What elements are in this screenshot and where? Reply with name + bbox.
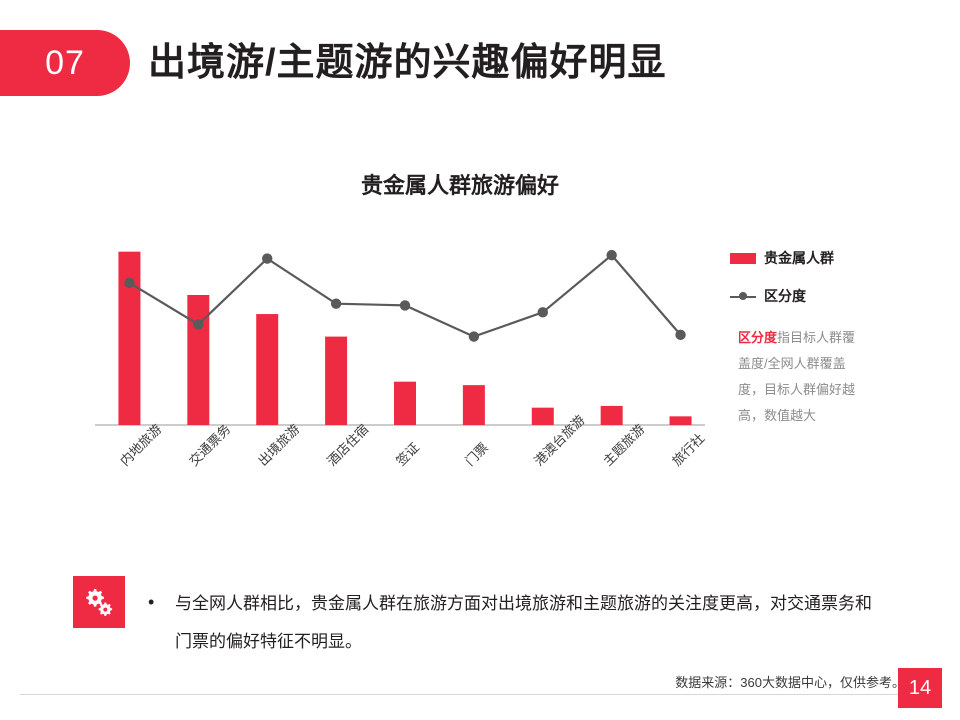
- legend-item-line: 区分度: [730, 283, 920, 309]
- chart-bar: [463, 385, 485, 425]
- chart-bar: [394, 382, 416, 425]
- chart-line-point: [469, 331, 479, 341]
- chart-line-point: [675, 330, 685, 340]
- slide-header: 07 出境游/主题游的兴趣偏好明显: [0, 30, 960, 96]
- chart-line-point: [193, 319, 203, 329]
- chart-line-point: [538, 307, 548, 317]
- bullet-text: 与全网人群相比，贵金属人群在旅游方面对出境旅游和主题旅游的关注度更高，对交通票务…: [175, 585, 875, 661]
- legend-note-highlight: 区分度: [738, 330, 777, 345]
- chart-bar: [670, 416, 692, 425]
- chart-svg: [95, 235, 715, 450]
- bullet-marker: •: [148, 593, 154, 611]
- legend-bar-label: 贵金属人群: [764, 248, 834, 268]
- footer-source: 数据来源：360大数据中心，仅供参考。: [0, 672, 905, 691]
- legend-note: 区分度指目标人群覆盖度/全网人群覆盖度，目标人群偏好越高，数值越大: [738, 325, 858, 429]
- chart-line-point: [400, 300, 410, 310]
- chart-bar: [187, 295, 209, 425]
- chart-x-axis-labels: 内地旅游交通票务出境旅游酒店住宿签证门票港澳台旅游主题旅游旅行社: [95, 450, 715, 530]
- legend-line-swatch-icon: [730, 291, 756, 302]
- page-title: 出境游/主题游的兴趣偏好明显: [148, 28, 667, 98]
- footer-divider: [20, 694, 940, 695]
- header-number: 07: [0, 30, 130, 96]
- chart-line-point: [124, 278, 134, 288]
- chart-legend: 贵金属人群 区分度: [730, 245, 920, 321]
- chart-line-point: [331, 298, 341, 308]
- gears-icon: [73, 576, 125, 628]
- legend-bar-swatch-icon: [730, 253, 756, 264]
- chart-line: [129, 255, 680, 336]
- chart-bar: [118, 252, 140, 425]
- chart-bar: [601, 406, 623, 425]
- legend-line-label: 区分度: [764, 286, 806, 306]
- page-number-badge: 14: [898, 668, 942, 708]
- chart-bar: [532, 408, 554, 425]
- chart-bar: [325, 337, 347, 425]
- chart-bar: [256, 314, 278, 425]
- legend-item-bar: 贵金属人群: [730, 245, 920, 271]
- chart-line-point: [606, 250, 616, 260]
- chart-title: 贵金属人群旅游偏好: [0, 168, 920, 200]
- chart-line-point: [262, 253, 272, 263]
- chart-plot-area: [95, 235, 715, 450]
